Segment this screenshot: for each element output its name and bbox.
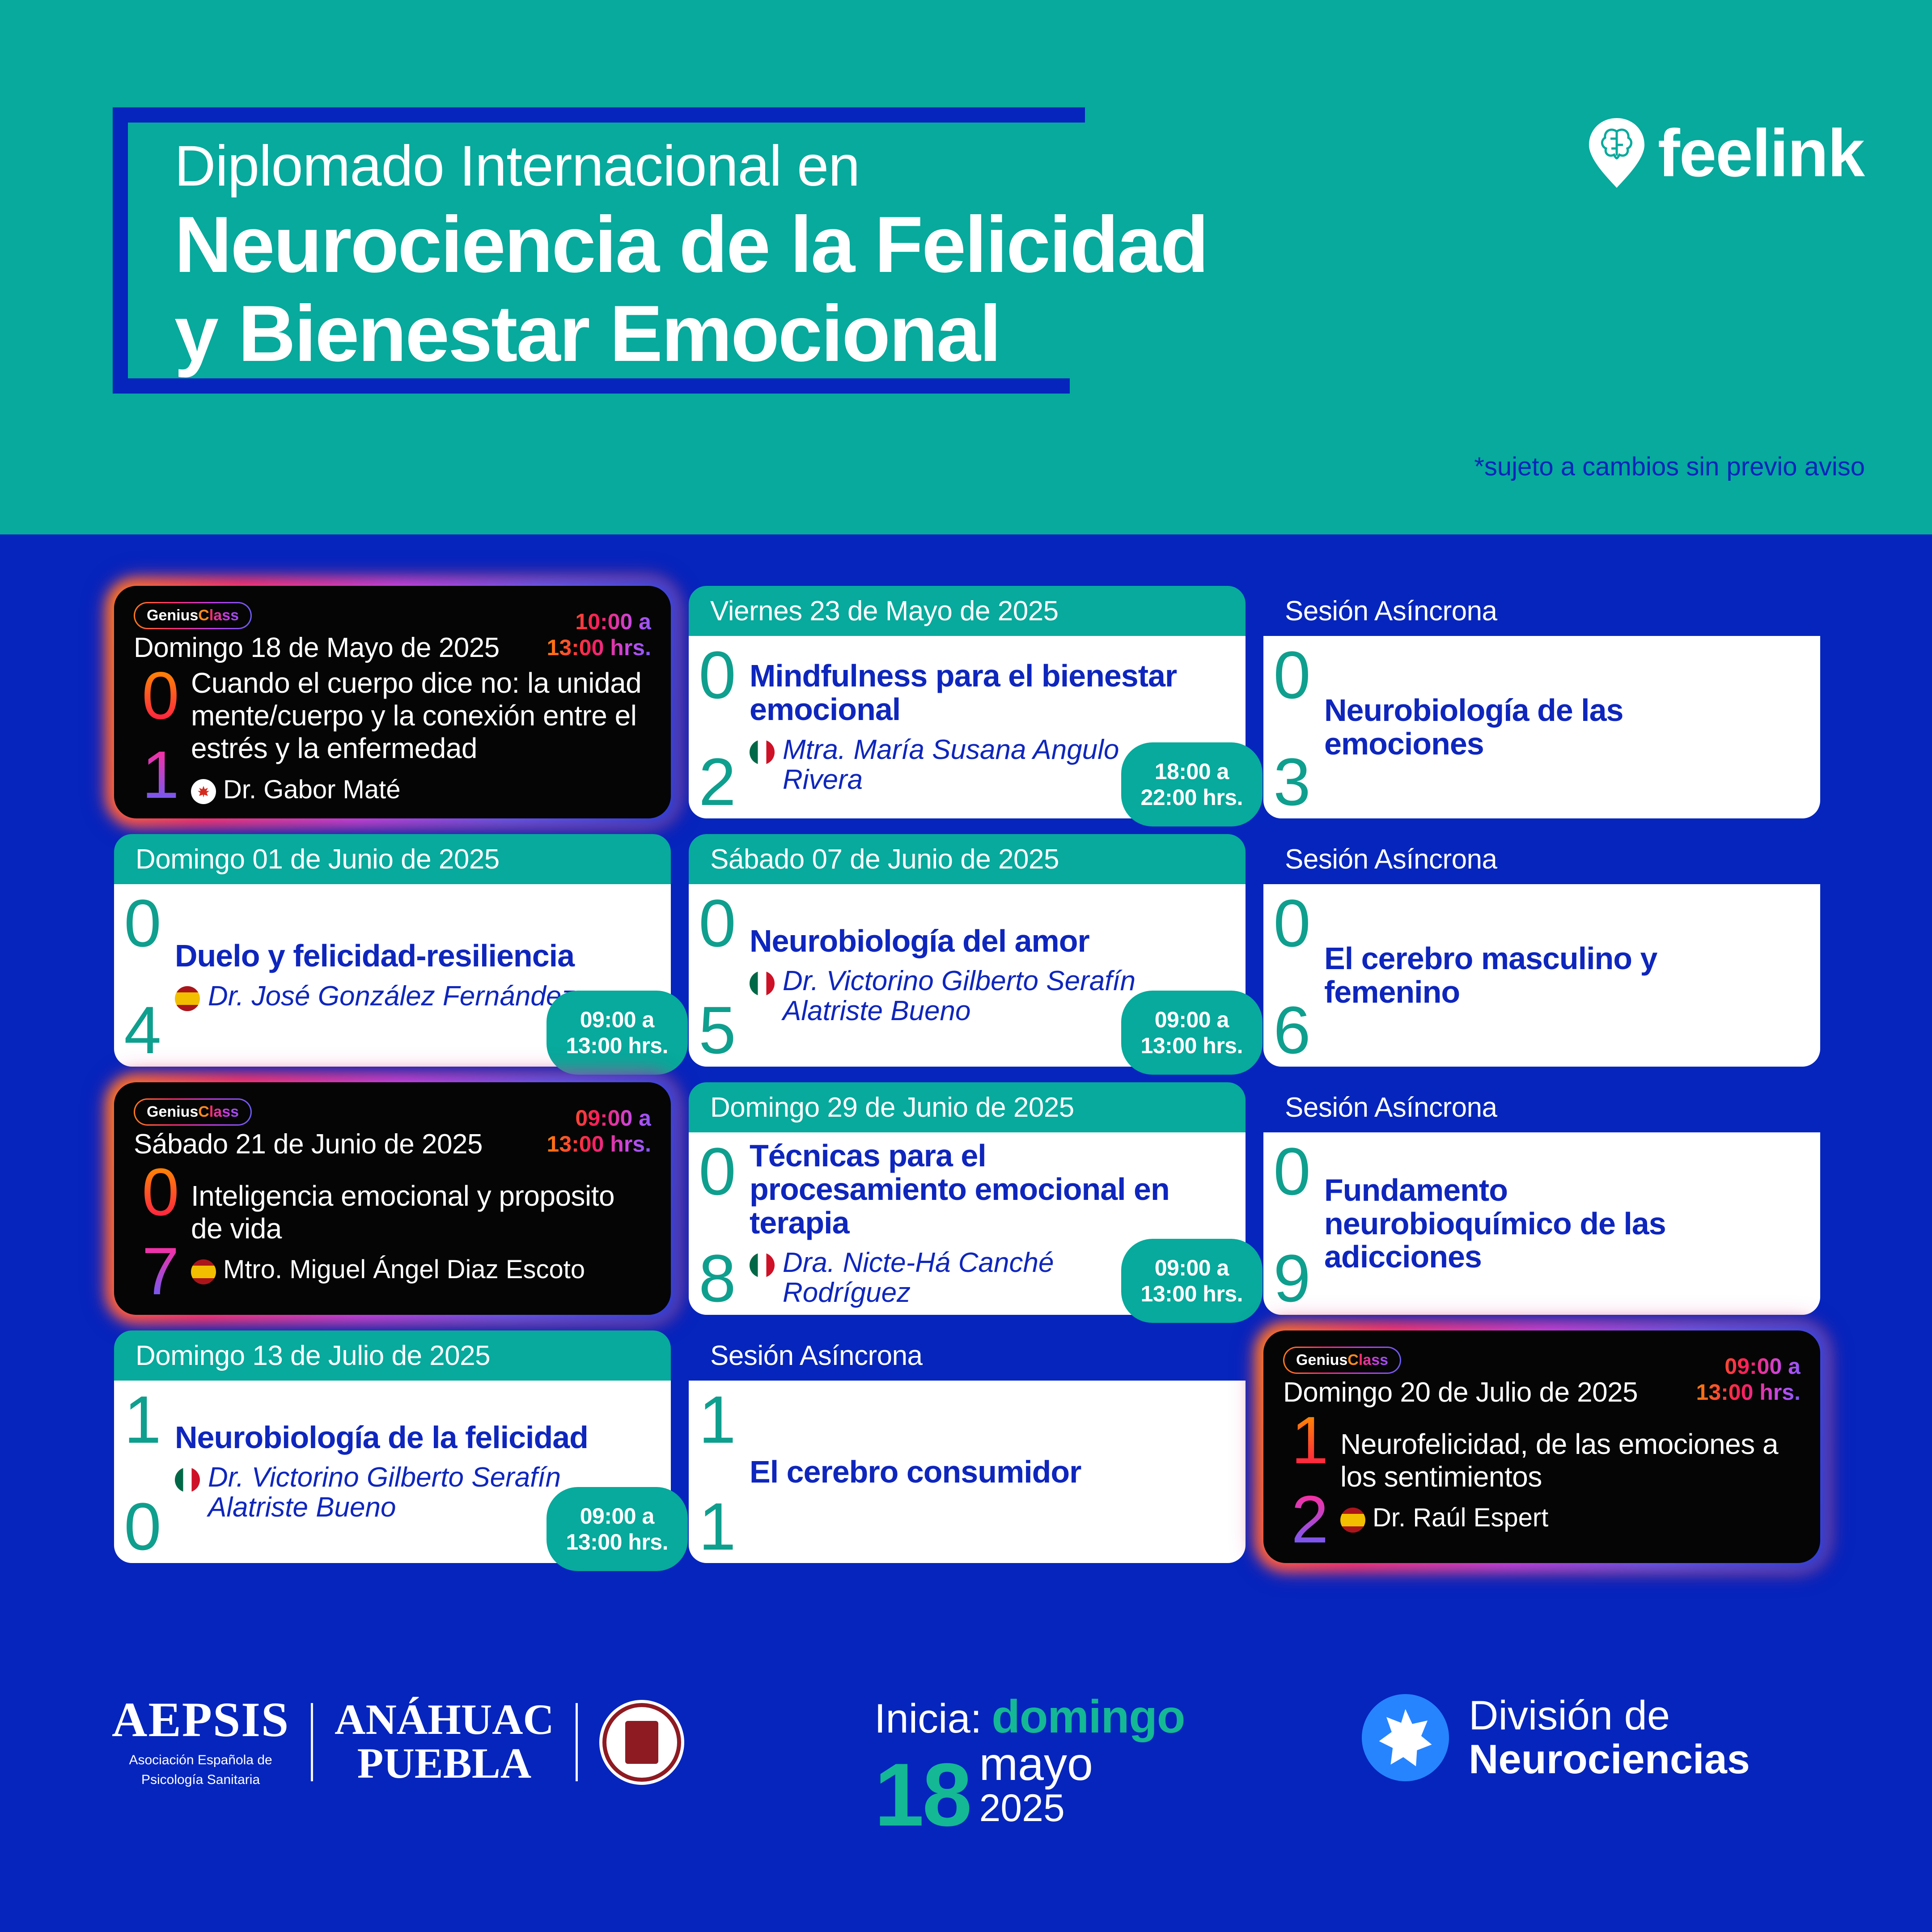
header-banner: Diplomado Internacional en Neurociencia …: [0, 0, 1932, 534]
start-label: Inicia:: [874, 1695, 982, 1742]
title-line-1: Neurociencia de la Felicidad: [174, 203, 1516, 287]
start-date-block: Inicia: domingo 18 mayo 2025: [874, 1690, 1185, 1835]
module-grid: GeniusClassDomingo 18 de Mayo de 202510:…: [114, 586, 1827, 1579]
module-cell: GeniusClassDomingo 18 de Mayo de 202510:…: [114, 586, 689, 834]
division-line-2: Neurociencias: [1469, 1738, 1750, 1782]
flag-mx-icon: [750, 740, 775, 765]
speaker-row: Dr. Raúl Espert: [1340, 1503, 1796, 1533]
module-card[interactable]: Sesión Asíncrona03Neurobiología de las e…: [1263, 586, 1820, 818]
module-card-genius[interactable]: GeniusClassSábado 21 de Junio de 202509:…: [114, 1082, 671, 1315]
geniusclass-badge: GeniusClass: [1283, 1347, 1401, 1374]
start-month: mayo: [979, 1741, 1093, 1788]
module-card-genius[interactable]: GeniusClassDomingo 20 de Julio de 202509…: [1263, 1330, 1820, 1563]
card-header: Sesión Asíncrona: [1263, 1082, 1820, 1132]
module-cell: Sesión Asíncrona06El cerebro masculino y…: [1263, 834, 1838, 1082]
card-date: Domingo 29 de Junio de 2025: [710, 1092, 1074, 1123]
module-number-top: 1: [124, 1392, 161, 1447]
module-number-top: 1: [699, 1392, 736, 1447]
module-number-bottom: 1: [699, 1499, 736, 1554]
card-header: Sesión Asíncrona: [1263, 834, 1820, 884]
module-cell: Domingo 29 de Junio de 202508Técnicas pa…: [689, 1082, 1263, 1330]
module-cell: Domingo 13 de Julio de 202510Neurobiolog…: [114, 1330, 689, 1579]
card-body: 05Neurobiología del amorDr. Victorino Gi…: [689, 884, 1246, 1067]
card-body: 04Duelo y felicidad-resilienciaDr. José …: [114, 884, 671, 1067]
footer-bar: AEPSIS Asociación Española de Psicología…: [0, 1655, 1932, 1932]
card-date: Sesión Asíncrona: [1285, 1092, 1497, 1123]
module-cell: Sesión Asíncrona09Fundamento neurobioquí…: [1263, 1082, 1838, 1330]
module-card[interactable]: Domingo 01 de Junio de 202504Duelo y fel…: [114, 834, 671, 1067]
module-number-bottom: 3: [1273, 754, 1310, 809]
division-neurociencias-logo: División de Neurociencias: [1362, 1694, 1750, 1781]
speaker-name: Dr. José González Fernández: [208, 982, 575, 1012]
module-card[interactable]: Sábado 07 de Junio de 202505Neurobiologí…: [689, 834, 1246, 1067]
card-body: 09Fundamento neurobioquímico de las adic…: [1263, 1132, 1820, 1315]
card-header: Sesión Asíncrona: [1263, 586, 1820, 636]
geniusclass-badge: GeniusClass: [134, 602, 252, 629]
module-title: El cerebro consumidor: [750, 1455, 1178, 1489]
title-block: Diplomado Internacional en Neurociencia …: [174, 134, 1516, 376]
flag-ca-icon: [191, 779, 216, 804]
module-number-bottom: 6: [1273, 1003, 1310, 1058]
module-title: Neurobiología del amor: [750, 924, 1178, 958]
aepsis-subtitle: Asociación Española de Psicología Sanita…: [129, 1750, 272, 1789]
card-time: 09:00 a13:00 hrs.: [547, 1105, 651, 1157]
module-number-top: 0: [699, 1144, 736, 1199]
card-date: Sesión Asíncrona: [1285, 843, 1497, 875]
module-cell: Domingo 01 de Junio de 202504Duelo y fel…: [114, 834, 689, 1082]
module-cell: GeniusClassSábado 21 de Junio de 202509:…: [114, 1082, 689, 1330]
speaker-name: Dr. Victorino Gilberto Serafín Alatriste…: [783, 966, 1178, 1026]
flag-mx-icon: [750, 971, 775, 996]
module-number-bottom: 2: [1291, 1492, 1328, 1547]
card-date: Sesión Asíncrona: [710, 1340, 923, 1372]
speaker-name: Dra. Nicte-Há Canché Rodríguez: [783, 1248, 1178, 1308]
module-title: Neurofelicidad, de las emociones a los s…: [1340, 1428, 1796, 1493]
module-title: Inteligencia emocional y proposito de vi…: [191, 1180, 647, 1245]
anahuac-logo: ANÁHUAC PUEBLA: [335, 1698, 554, 1786]
logo-divider-1: [311, 1703, 313, 1781]
flag-mx-icon: [175, 1467, 200, 1492]
module-number-top: 0: [1273, 1144, 1310, 1199]
card-date: Sábado 07 de Junio de 2025: [710, 843, 1059, 875]
module-cell: Sesión Asíncrona03Neurobiología de las e…: [1263, 586, 1838, 834]
module-number-top: 0: [142, 1165, 179, 1220]
module-title: Técnicas para el procesamiento emocional…: [750, 1139, 1178, 1240]
card-date: Domingo 01 de Junio de 2025: [136, 843, 500, 875]
module-title: Mindfulness para el bienestar emocional: [750, 659, 1178, 726]
speaker-name: Mtro. Miguel Ángel Diaz Escoto: [223, 1254, 585, 1284]
card-time: 09:00 a13:00 hrs.: [1696, 1353, 1801, 1405]
module-title: Neurobiología de la felicidad: [175, 1421, 604, 1454]
neuron-star-icon: [1362, 1694, 1449, 1781]
flag-es-icon: [191, 1259, 216, 1284]
geniusclass-badge: GeniusClass: [134, 1098, 252, 1126]
module-number-top: 0: [1273, 648, 1310, 703]
card-date: Sábado 21 de Junio de 2025: [134, 1128, 483, 1160]
speaker-row: Mtro. Miguel Ángel Diaz Escoto: [191, 1254, 647, 1284]
speaker-name: Dr. Gabor Maté: [223, 775, 400, 805]
module-number-bottom: 1: [142, 747, 179, 802]
speaker-row: Mtra. María Susana Angulo Rivera: [750, 735, 1178, 795]
flag-es-icon: [175, 986, 200, 1011]
disclaimer-note: *sujeto a cambios sin previo aviso: [1474, 452, 1865, 482]
module-number-top: 0: [699, 896, 736, 951]
module-title: Fundamento neurobioquímico de las adicci…: [1324, 1174, 1753, 1274]
speaker-name: Dr. Victorino Gilberto Serafín Alatriste…: [208, 1463, 604, 1523]
card-time: 09:00 a13:00 hrs.: [1121, 991, 1263, 1075]
card-header: Viernes 23 de Mayo de 2025: [689, 586, 1246, 636]
start-day-number: 18: [874, 1756, 970, 1835]
card-header: Domingo 29 de Junio de 2025: [689, 1082, 1246, 1132]
card-time: 09:00 a13:00 hrs.: [547, 991, 688, 1075]
module-card[interactable]: Domingo 29 de Junio de 202508Técnicas pa…: [689, 1082, 1246, 1315]
module-card[interactable]: Viernes 23 de Mayo de 202502Mindfulness …: [689, 586, 1246, 818]
module-title: El cerebro masculino y femenino: [1324, 942, 1753, 1009]
logo-divider-2: [576, 1703, 578, 1781]
module-title: Duelo y felicidad-resiliencia: [175, 939, 604, 973]
module-number-top: 0: [1273, 896, 1310, 951]
speaker-row: Dr. Victorino Gilberto Serafín Alatriste…: [175, 1463, 604, 1523]
module-cell: Sábado 07 de Junio de 202505Neurobiologí…: [689, 834, 1263, 1082]
title-pretitle: Diplomado Internacional en: [174, 134, 1516, 198]
module-card[interactable]: Sesión Asíncrona06El cerebro masculino y…: [1263, 834, 1820, 1067]
module-number-bottom: 8: [699, 1251, 736, 1306]
card-date: Domingo 20 de Julio de 2025: [1283, 1377, 1638, 1408]
division-line-1: División de: [1469, 1694, 1750, 1738]
partner-logos: AEPSIS Asociación Española de Psicología…: [112, 1695, 684, 1789]
flag-mx-icon: [750, 1253, 775, 1278]
university-seal-icon: [599, 1700, 684, 1785]
module-card[interactable]: Sesión Asíncrona09Fundamento neurobioquí…: [1263, 1082, 1820, 1315]
module-number-top: 0: [142, 668, 179, 723]
speaker-row: Dra. Nicte-Há Canché Rodríguez: [750, 1248, 1178, 1308]
module-card[interactable]: Domingo 13 de Julio de 202510Neurobiolog…: [114, 1330, 671, 1563]
flag-es-icon: [1340, 1508, 1365, 1533]
module-number-top: 0: [699, 648, 736, 703]
feelink-logo: feelink: [1587, 117, 1864, 189]
card-time: 10:00 a13:00 hrs.: [547, 609, 651, 661]
card-time: 09:00 a13:00 hrs.: [1121, 1239, 1263, 1323]
module-title: Neurobiología de las emociones: [1324, 694, 1753, 761]
card-date: Domingo 18 de Mayo de 2025: [134, 632, 500, 664]
card-body: 06El cerebro masculino y femenino: [1263, 884, 1820, 1067]
speaker-name: Mtra. María Susana Angulo Rivera: [783, 735, 1178, 795]
module-number-bottom: 4: [124, 1003, 161, 1058]
speaker-row: Dr. José González Fernández: [175, 982, 604, 1012]
start-dayofweek: domingo: [991, 1690, 1185, 1744]
card-header: Domingo 13 de Julio de 2025: [114, 1330, 671, 1381]
card-date: Domingo 13 de Julio de 2025: [136, 1340, 490, 1372]
aepsis-name: AEPSIS: [112, 1695, 289, 1744]
module-cell: Sesión Asíncrona11El cerebro consumidor: [689, 1330, 1263, 1579]
module-title: Cuando el cuerpo dice no: la unidad ment…: [191, 667, 647, 765]
speaker-name: Dr. Raúl Espert: [1373, 1503, 1548, 1533]
card-time: 09:00 a13:00 hrs.: [547, 1487, 688, 1571]
card-header: Sesión Asíncrona: [689, 1330, 1246, 1381]
card-header: Sábado 07 de Junio de 2025: [689, 834, 1246, 884]
module-card-genius[interactable]: GeniusClassDomingo 18 de Mayo de 202510:…: [114, 586, 671, 818]
module-number-bottom: 0: [124, 1499, 161, 1554]
aepsis-logo: AEPSIS Asociación Española de Psicología…: [112, 1695, 289, 1789]
module-cell: GeniusClassDomingo 20 de Julio de 202509…: [1263, 1330, 1838, 1579]
module-number-top: 0: [124, 896, 161, 951]
module-card[interactable]: Sesión Asíncrona11El cerebro consumidor: [689, 1330, 1246, 1563]
card-date: Sesión Asíncrona: [1285, 595, 1497, 627]
card-header: Domingo 01 de Junio de 2025: [114, 834, 671, 884]
speaker-row: Dr. Gabor Maté: [191, 775, 647, 805]
feelink-wordmark: feelink: [1658, 119, 1864, 186]
card-body: 02Mindfulness para el bienestar emociona…: [689, 636, 1246, 818]
speaker-row: Dr. Victorino Gilberto Serafín Alatriste…: [750, 966, 1178, 1026]
card-time: 18:00 a22:00 hrs.: [1121, 742, 1263, 826]
card-body: 03Neurobiología de las emociones: [1263, 636, 1820, 818]
card-body: 10Neurobiología de la felicidadDr. Victo…: [114, 1381, 671, 1563]
brain-pin-icon: [1587, 117, 1646, 189]
module-number-bottom: 7: [142, 1244, 179, 1299]
module-number-bottom: 5: [699, 1003, 736, 1058]
card-date: Viernes 23 de Mayo de 2025: [710, 595, 1059, 627]
card-body: 11El cerebro consumidor: [689, 1381, 1246, 1563]
module-cell: Viernes 23 de Mayo de 202502Mindfulness …: [689, 586, 1263, 834]
card-body: 08Técnicas para el procesamiento emocion…: [689, 1132, 1246, 1315]
module-number-bottom: 2: [699, 754, 736, 809]
title-line-2: y Bienestar Emocional: [174, 292, 1516, 376]
module-number-bottom: 9: [1273, 1251, 1310, 1306]
start-year: 2025: [979, 1788, 1093, 1829]
anahuac-line-2: PUEBLA: [357, 1741, 531, 1786]
module-number-top: 1: [1291, 1413, 1328, 1468]
aepsis-subtitle-line-2: Psicología Sanitaria: [129, 1770, 272, 1790]
aepsis-subtitle-line-1: Asociación Española de: [129, 1750, 272, 1770]
anahuac-line-1: ANÁHUAC: [335, 1698, 554, 1741]
